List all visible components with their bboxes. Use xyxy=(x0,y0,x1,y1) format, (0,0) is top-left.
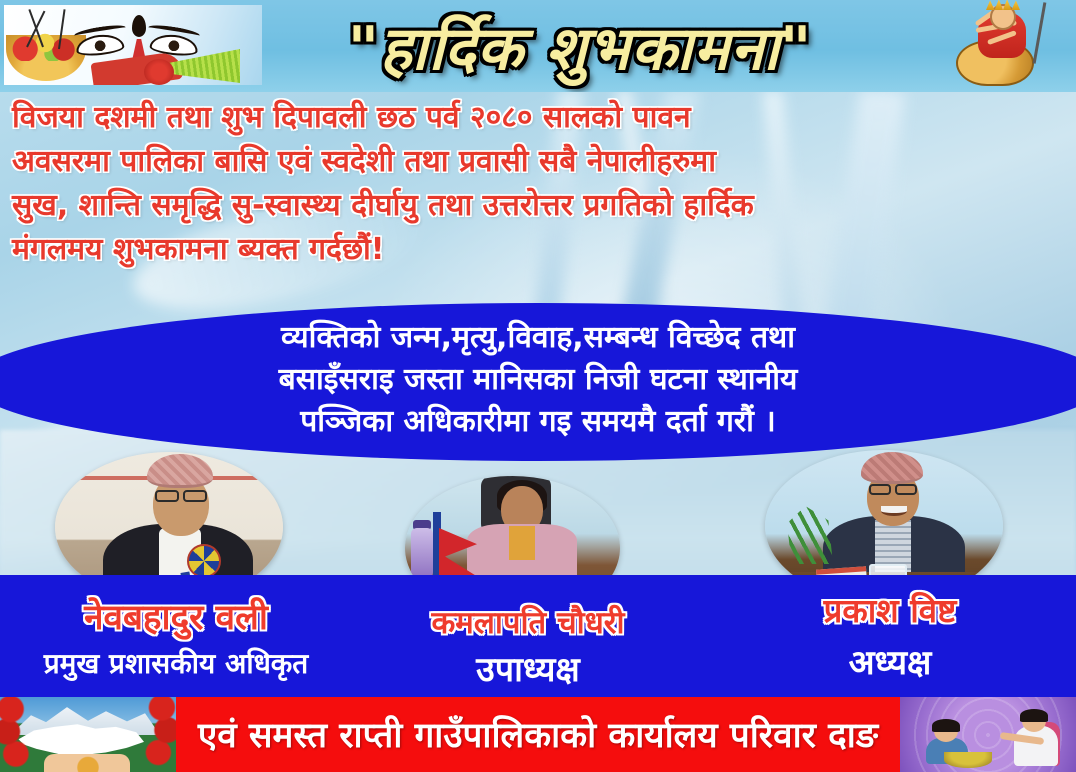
goddess-durga-on-lion-icon xyxy=(942,0,1074,92)
footer-banner: एवं समस्त राप्ती गाउँपालिकाको कार्यालय प… xyxy=(0,697,1076,772)
official-entry: नेवबहादुर वली प्रमुख प्रशासकीय अधिकृत xyxy=(0,575,352,682)
greeting-message: विजया दशमी तथा शुभ दिपावली छठ पर्व २०८० … xyxy=(12,96,1064,272)
bhai-tika-ceremony-icon xyxy=(900,697,1076,772)
official-entry: प्रकाश विष्ट अध्यक्ष xyxy=(704,575,1076,684)
notice-line: पञ्जिका अधिकारीमा गइ समयमै दर्ता गरौं । xyxy=(0,401,1076,443)
greeting-poster: "हार्दिक शुभकामना" विजया दशमी तथा शुभ दि… xyxy=(0,0,1076,772)
page-title: "हार्दिक शुभकामना" xyxy=(230,0,930,92)
footer-text: एवं समस्त राप्ती गाउँपालिकाको कार्यालय प… xyxy=(176,697,900,772)
official-name: प्रकाश विष्ट xyxy=(704,587,1076,632)
notice-line: बसाइँसराइ जस्ता मानिसका निजी घटना स्थानी… xyxy=(0,359,1076,401)
official-title: प्रमुख प्रशासकीय अधिकृत xyxy=(0,644,352,682)
greeting-line: मंगलमय शुभकामना ब्यक्त गर्दछौं! xyxy=(12,228,1064,272)
official-name: नेवबहादुर वली xyxy=(0,593,352,640)
official-name: कमलापति चौधरी xyxy=(352,601,704,643)
officials-name-band: नेवबहादुर वली प्रमुख प्रशासकीय अधिकृत कम… xyxy=(0,575,1076,697)
greeting-line: सुख, शान्ति समृद्धि सु-स्वास्थ्य दीर्घाय… xyxy=(12,184,1064,228)
nepal-map-mountains-flowers-icon xyxy=(0,697,176,772)
greeting-line: अवसरमा पालिका बासि एवं स्वदेशी तथा प्रवा… xyxy=(12,140,1064,184)
durga-eyes-puja-thali-jamara-icon xyxy=(4,5,262,85)
official-title: उपाध्यक्ष xyxy=(352,645,704,691)
greeting-line: विजया दशमी तथा शुभ दिपावली छठ पर्व २०८० … xyxy=(12,96,1064,140)
notice-line: व्यक्तिको जन्म,मृत्यु,विवाह,सम्बन्ध विच्… xyxy=(0,317,1076,359)
official-entry: कमलापति चौधरी उपाध्यक्ष xyxy=(352,575,704,691)
poster-header: "हार्दिक शुभकामना" xyxy=(0,0,1076,92)
official-title: अध्यक्ष xyxy=(704,638,1076,684)
registration-notice: व्यक्तिको जन्म,मृत्यु,विवाह,सम्बन्ध विच्… xyxy=(0,317,1076,443)
